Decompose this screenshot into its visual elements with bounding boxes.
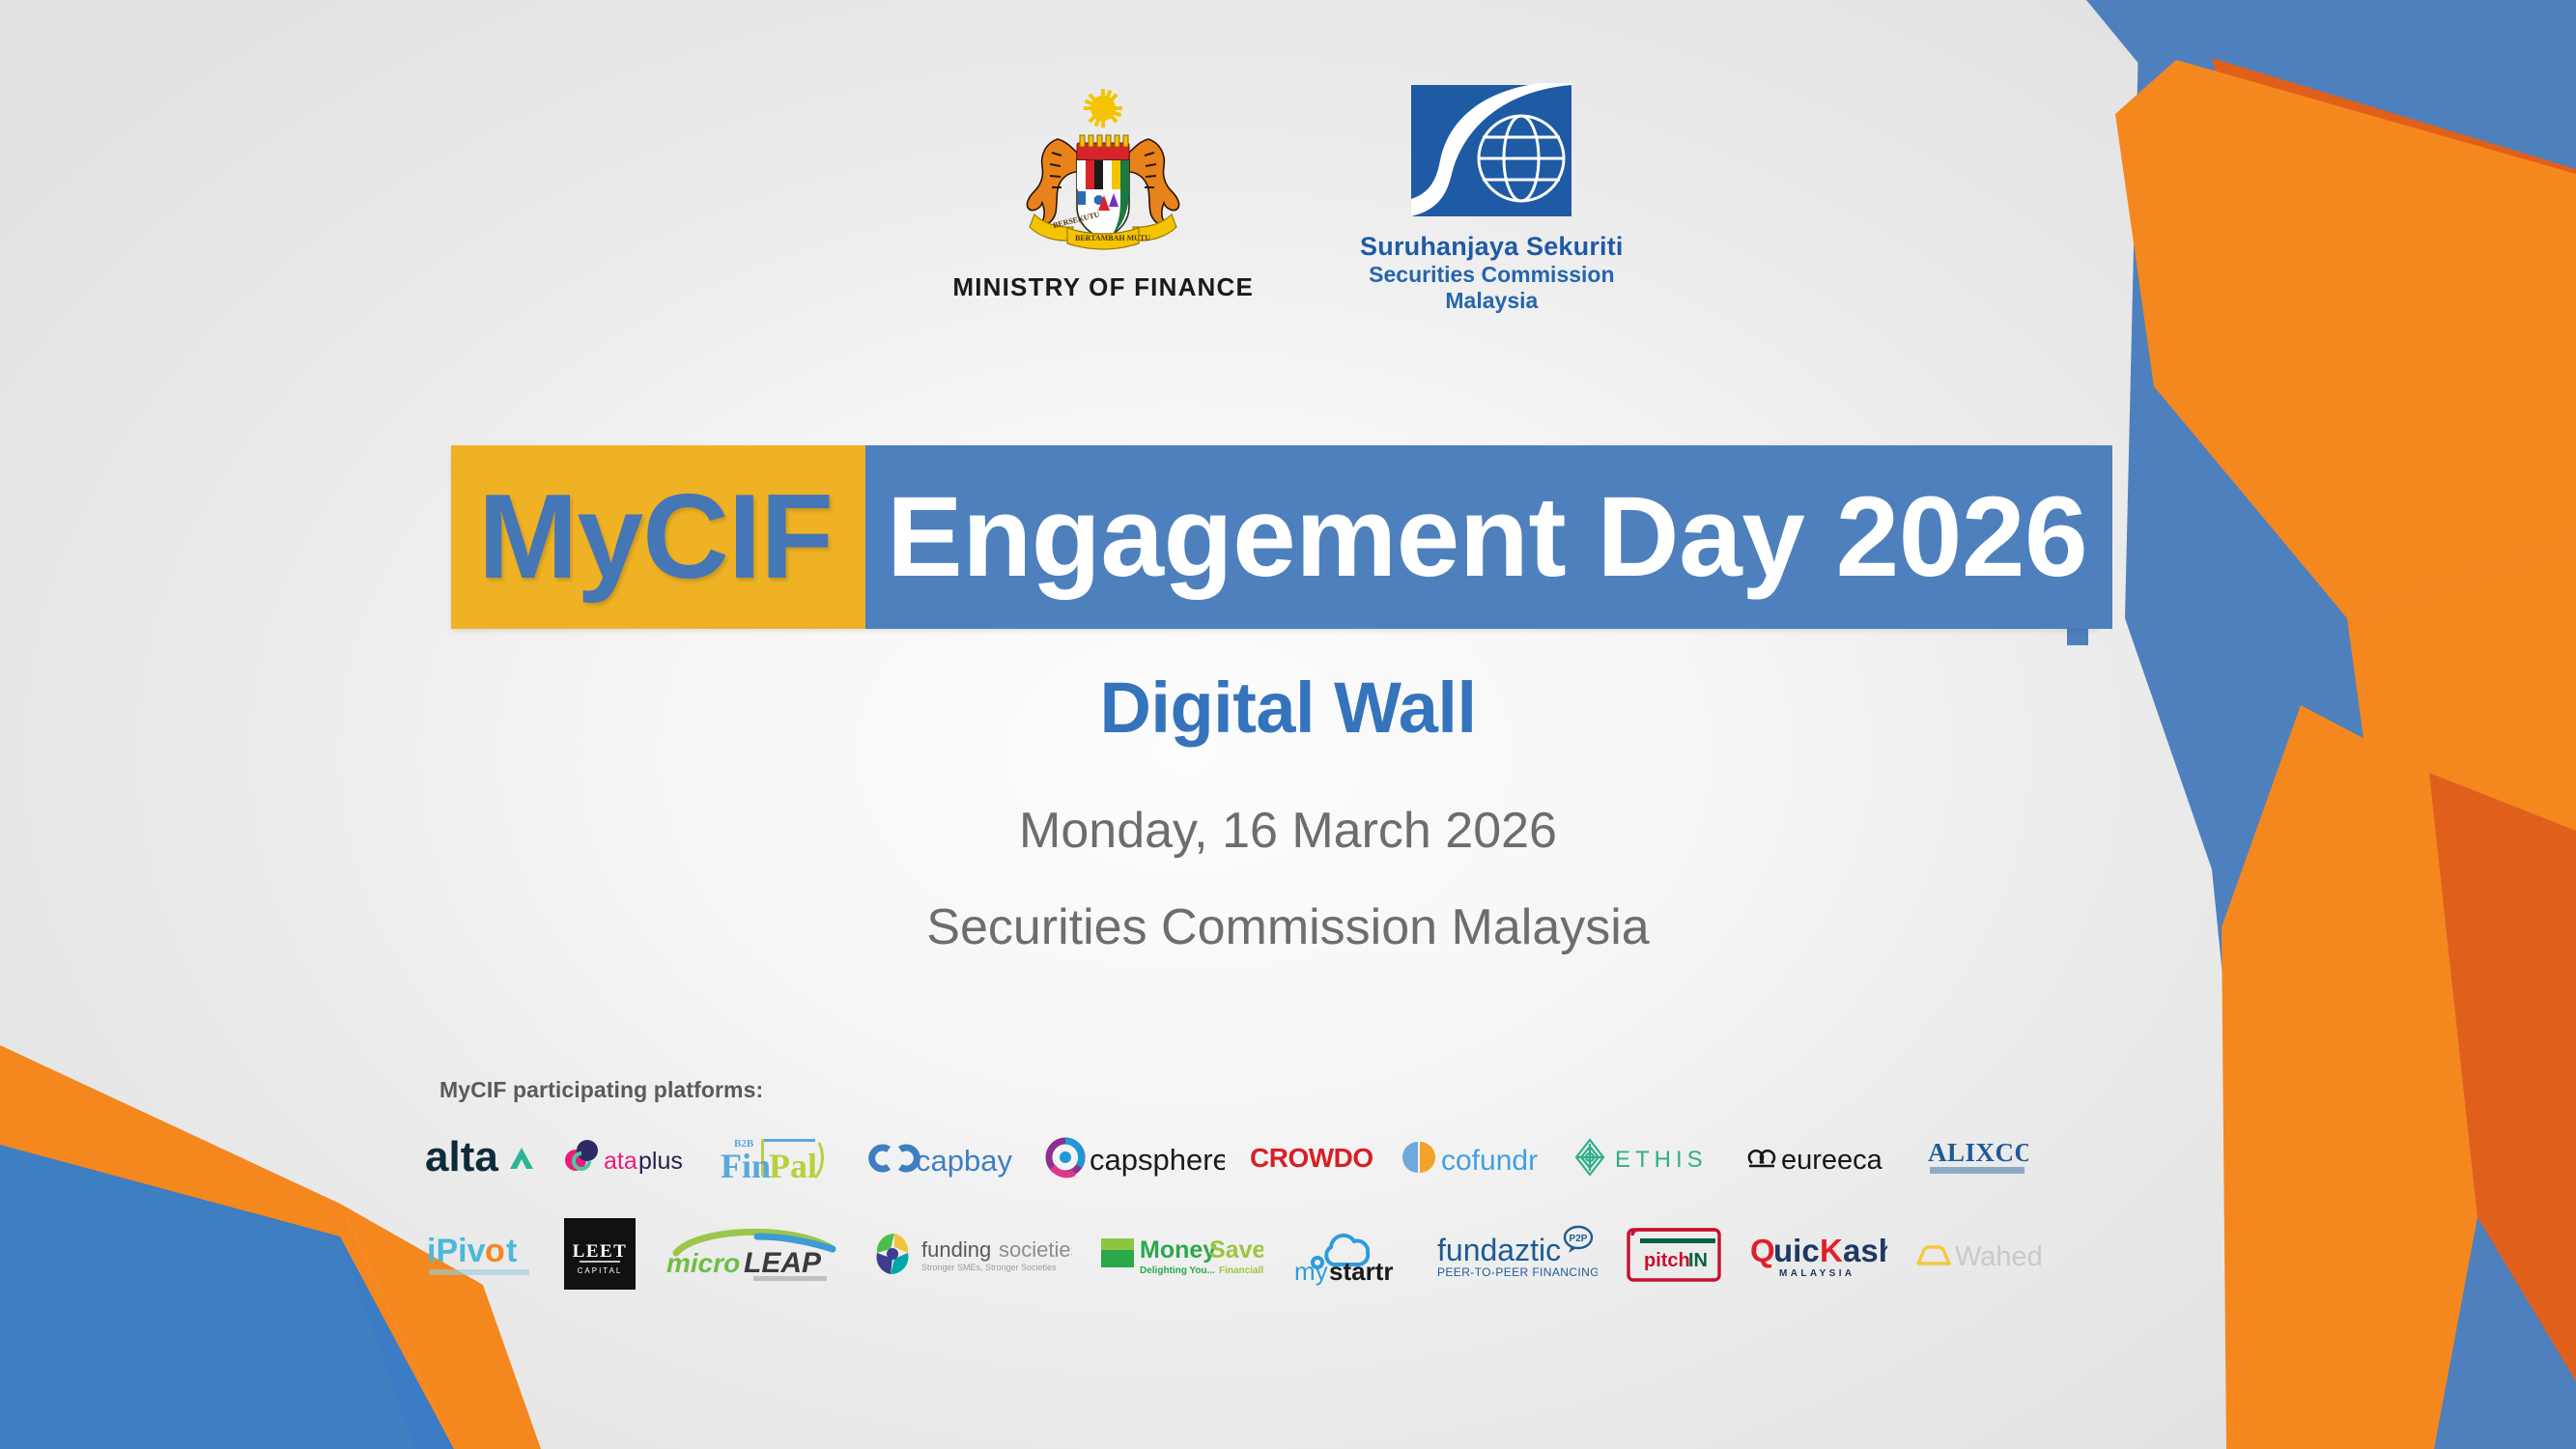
- header-logos: BERSEKUTU BERTAMBAH MUTU MINISTRY OF FIN…: [0, 83, 2576, 314]
- platform-logo-ethis[interactable]: ETHIS: [1569, 1121, 1719, 1194]
- malaysia-coat-of-arms-icon: BERSEKUTU BERTAMBAH MUTU: [982, 83, 1224, 267]
- svg-text:Delighting You...: Delighting You...: [1140, 1265, 1215, 1276]
- svg-text:Stronger SMEs, Stronger Societ: Stronger SMEs, Stronger Societies: [921, 1263, 1057, 1272]
- platform-logo-leet-capital[interactable]: LEET CAPITAL: [564, 1217, 636, 1291]
- platform-logo-mystartr[interactable]: my startr: [1288, 1217, 1410, 1291]
- svg-text:ata: ata: [604, 1148, 637, 1175]
- svg-text:Pal: Pal: [769, 1147, 817, 1185]
- svg-text:LEET: LEET: [573, 1241, 628, 1262]
- svg-text:t: t: [506, 1233, 517, 1269]
- svg-text:CAPITAL: CAPITAL: [578, 1266, 623, 1275]
- svg-text:iPiv: iPiv: [427, 1233, 486, 1269]
- sc-logo-line-3: Malaysia: [1445, 288, 1538, 314]
- svg-text:ash: ash: [1843, 1233, 1887, 1268]
- sc-globe-mark-icon: [1390, 83, 1593, 228]
- bg-shape-blue-bottom-left-2: [0, 1145, 415, 1449]
- page-subtitle: Digital Wall: [0, 667, 2576, 749]
- svg-text:Financially: Financially: [1219, 1265, 1263, 1276]
- svg-text:Fin: Fin: [721, 1147, 771, 1185]
- platform-logo-eureeca[interactable]: eureeca: [1744, 1121, 1901, 1194]
- funding-societies-petal-icon: [876, 1234, 908, 1274]
- svg-text:startr: startr: [1329, 1257, 1393, 1286]
- title-banner-event: Engagement Day 2026: [887, 480, 2087, 594]
- ministry-of-finance-label: MINISTRY OF FINANCE: [952, 272, 1254, 302]
- svg-text:CROWDO: CROWDO: [1250, 1143, 1373, 1173]
- title-banner-event-block: Engagement Day 2026: [865, 445, 2112, 629]
- svg-text:alta: alta: [425, 1133, 498, 1180]
- svg-text:MALAYSIA: MALAYSIA: [1779, 1268, 1855, 1279]
- bg-shape-orange-bottom-left: [0, 1045, 454, 1449]
- svg-text:plus: plus: [638, 1148, 683, 1175]
- platform-logo-funding-societies[interactable]: funding societies Stronger SMEs, Stronge…: [869, 1217, 1072, 1291]
- sc-logo-line-2: Securities Commission: [1369, 262, 1614, 288]
- svg-text:capsphere: capsphere: [1090, 1143, 1225, 1177]
- svg-text:micro: micro: [666, 1248, 740, 1278]
- svg-text:uic: uic: [1773, 1233, 1820, 1268]
- platform-logo-capsphere[interactable]: capsphere: [1045, 1121, 1225, 1194]
- svg-text:Money: Money: [1140, 1236, 1216, 1264]
- platform-logo-grid: alta ata plus: [425, 1116, 2135, 1295]
- svg-text:K: K: [1820, 1233, 1843, 1268]
- slide-root: BERSEKUTU BERTAMBAH MUTU MINISTRY OF FIN…: [0, 0, 2576, 1449]
- participating-platforms-label: MyCIF participating platforms:: [439, 1077, 763, 1103]
- platform-logo-cofundr[interactable]: cofundr: [1399, 1121, 1543, 1194]
- securities-commission-logo: Suruhanjaya Sekuriti Securities Commissi…: [1360, 83, 1624, 314]
- platform-logo-moneysave[interactable]: Money Save Delighting You... Financially: [1097, 1217, 1263, 1291]
- svg-text:o: o: [485, 1233, 505, 1269]
- event-venue: Securities Commission Malaysia: [0, 898, 2576, 956]
- event-date: Monday, 16 March 2026: [0, 802, 2576, 860]
- bg-shape-blue-bottom-left: [0, 1145, 454, 1449]
- svg-text:IN: IN: [1688, 1250, 1708, 1271]
- platform-logo-alta[interactable]: alta: [425, 1121, 533, 1194]
- svg-text:PEER-TO-PEER FINANCING: PEER-TO-PEER FINANCING: [1437, 1265, 1598, 1279]
- title-banner-brand: MyCIF: [478, 477, 833, 597]
- platform-logo-quickash[interactable]: Q uic K ash MALAYSIA: [1750, 1217, 1887, 1291]
- svg-text:my: my: [1294, 1257, 1328, 1286]
- svg-text:Save: Save: [1209, 1236, 1263, 1264]
- platform-logo-fundaztic[interactable]: fundaztic P2P PEER-TO-PEER FINANCING: [1435, 1217, 1598, 1291]
- svg-text:pitch: pitch: [1644, 1250, 1690, 1271]
- svg-text:Wahed: Wahed: [1955, 1241, 2043, 1272]
- svg-text:P2P: P2P: [1570, 1234, 1588, 1244]
- platform-logo-crowdo[interactable]: CROWDO: [1250, 1121, 1373, 1194]
- title-banner: MyCIF Engagement Day 2026: [451, 445, 2098, 629]
- bg-shape-orange-band-lower: [2347, 541, 2576, 1043]
- svg-text:ALIXCO: ALIXCO: [1928, 1138, 2028, 1167]
- platform-logo-microleap[interactable]: micro LEAP: [661, 1217, 844, 1291]
- svg-text:capbay: capbay: [916, 1144, 1012, 1178]
- platform-logo-pitchin[interactable]: pitch IN: [1623, 1217, 1725, 1291]
- svg-text:ETHIS: ETHIS: [1615, 1147, 1708, 1173]
- platform-logo-row-2: iPiv o t LEET CAPITAL: [425, 1212, 2135, 1295]
- svg-text:BERTAMBAH MUTU: BERTAMBAH MUTU: [1075, 234, 1150, 242]
- platform-logo-b2b-finpal[interactable]: B2B Fin Pal: [719, 1121, 842, 1194]
- ministry-of-finance-logo: BERSEKUTU BERTAMBAH MUTU MINISTRY OF FIN…: [952, 83, 1254, 302]
- sc-logo-line-1: Suruhanjaya Sekuriti: [1360, 232, 1624, 262]
- platform-logo-alixco[interactable]: ALIXCO: [1926, 1121, 2028, 1194]
- svg-text:fundaztic: fundaztic: [1437, 1233, 1561, 1267]
- svg-text:funding: funding: [921, 1237, 991, 1262]
- svg-text:eureeca: eureeca: [1781, 1145, 1883, 1176]
- svg-text:LEAP: LEAP: [744, 1247, 822, 1279]
- platform-logo-wahed[interactable]: Wahed: [1912, 1217, 2055, 1291]
- bg-shape-orange-dark-lower: [2429, 773, 2576, 1381]
- svg-text:societies: societies: [999, 1237, 1072, 1262]
- title-banner-brand-block: MyCIF: [451, 445, 865, 629]
- platform-logo-capbay[interactable]: capbay: [867, 1121, 1020, 1194]
- platform-logo-row-1: alta ata plus: [425, 1116, 2135, 1199]
- svg-text:cofundr: cofundr: [1441, 1145, 1538, 1177]
- svg-text:Q: Q: [1750, 1233, 1775, 1268]
- platform-logo-ipivot[interactable]: iPiv o t: [425, 1217, 539, 1291]
- platform-logo-ataplus[interactable]: ata plus: [558, 1121, 694, 1194]
